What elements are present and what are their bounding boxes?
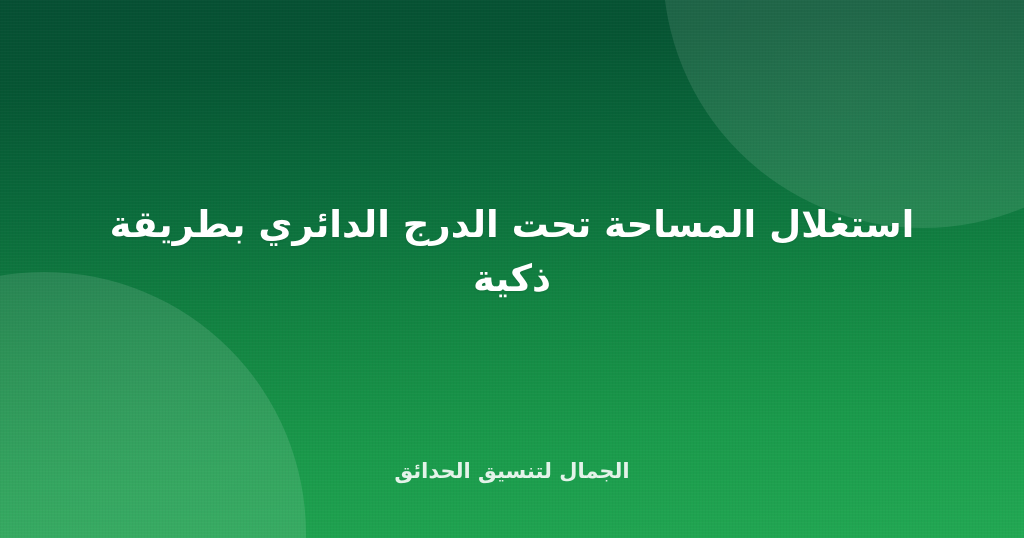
banner-content: استغلال المساحة تحت الدرج الدائري بطريقة…: [0, 0, 1024, 538]
promo-banner: استغلال المساحة تحت الدرج الدائري بطريقة…: [0, 0, 1024, 538]
headline-title: استغلال المساحة تحت الدرج الدائري بطريقة…: [0, 198, 1024, 305]
brand-name: الجمال لتنسيق الحدائق: [0, 457, 1024, 486]
